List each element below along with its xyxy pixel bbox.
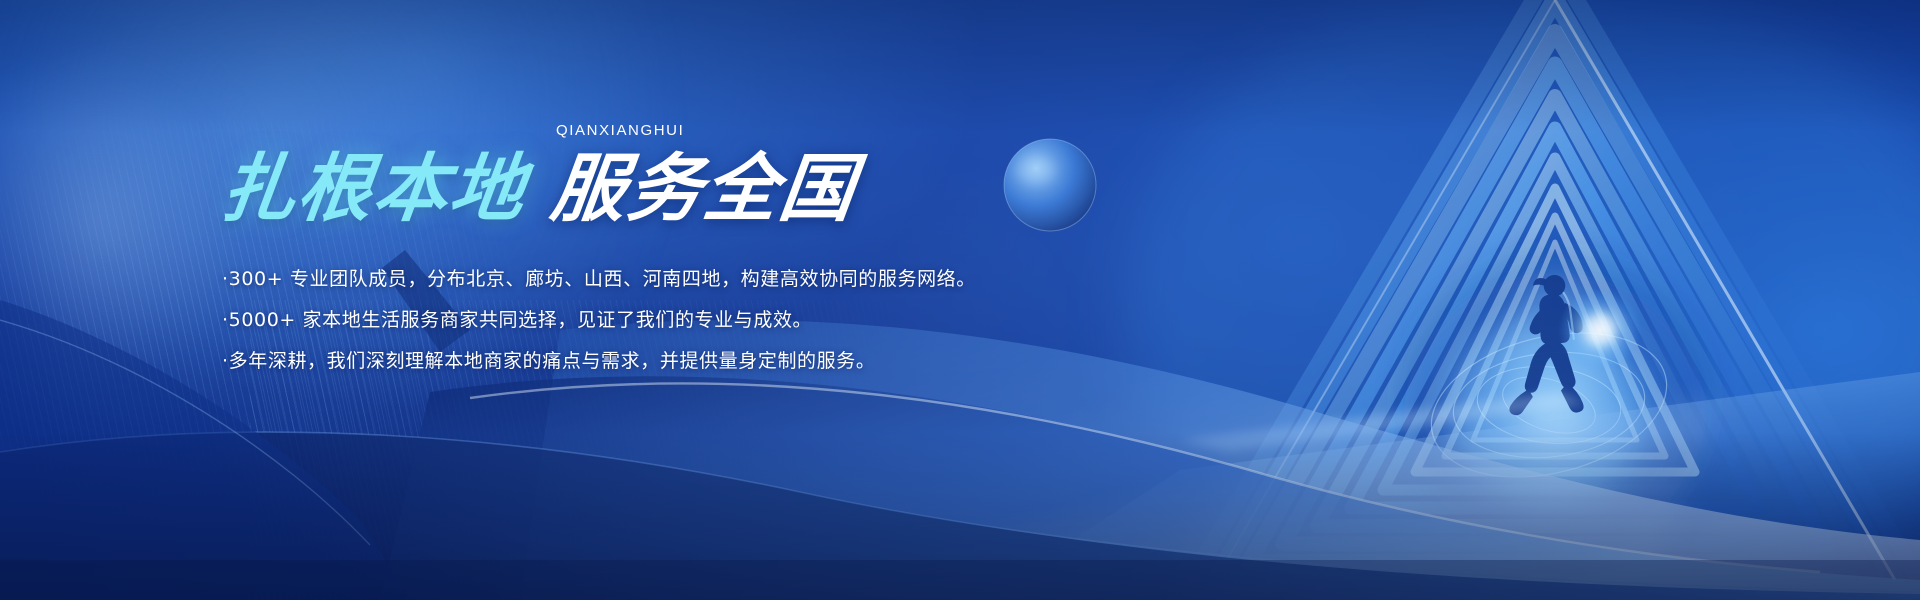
headline-primary: 扎根本地 [217, 152, 530, 226]
bullet-list: ·300+ 专业团队成员，分布北京、廊坊、山西、河南四地，构建高效协同的服务网络… [222, 270, 1202, 371]
headline-secondary-wrap: QIANXIANGHUI 服务全国 [552, 152, 856, 226]
banner-content: 扎根本地 QIANXIANGHUI 服务全国 ·300+ 专业团队成员，分布北京… [222, 140, 1202, 393]
bullet-item-1: ·300+ 专业团队成员，分布北京、廊坊、山西、河南四地，构建高效协同的服务网络… [222, 270, 1202, 289]
headline: 扎根本地 QIANXIANGHUI 服务全国 [222, 140, 1202, 226]
hero-banner: 扎根本地 QIANXIANGHUI 服务全国 ·300+ 专业团队成员，分布北京… [0, 0, 1920, 600]
brand-pinyin-label: QIANXIANGHUI [556, 122, 684, 139]
bullet-item-2: ·5000+ 家本地生活服务商家共同选择，见证了我们的专业与成效。 [222, 311, 1202, 330]
bullet-item-3: ·多年深耕，我们深刻理解本地商家的痛点与需求，并提供量身定制的服务。 [222, 352, 1202, 371]
headline-secondary: 服务全国 [547, 152, 860, 226]
